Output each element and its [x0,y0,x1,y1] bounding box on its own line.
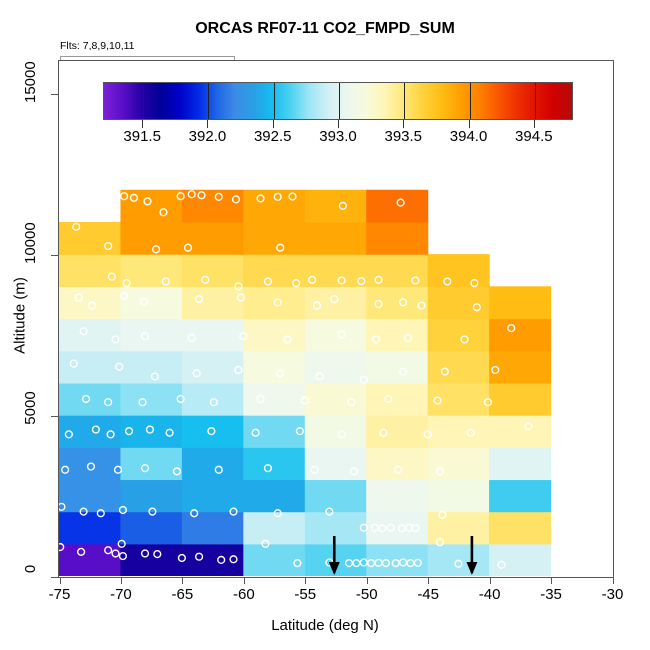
heatmap-cell [489,544,551,576]
heatmap-cell [305,383,367,416]
y-axis-tick [51,577,58,578]
x-axis-tick [551,577,552,584]
heatmap-cell [428,479,490,512]
heatmap-cell [182,479,244,512]
x-axis-tick-label: -45 [417,586,439,603]
colorbar-divider [143,83,144,119]
heatmap-cell [182,512,244,545]
heatmap-cell [366,351,428,384]
heatmap-cell [243,319,305,352]
colorbar-tick [469,120,470,128]
heatmap-cell [120,512,182,545]
colorbar-divider [535,83,536,119]
heatmap-cell [489,383,551,416]
x-axis-tick-label: -65 [172,586,194,603]
colorbar-tick-label: 394.0 [450,128,488,145]
heatmap-cell [182,286,244,319]
heatmap-cell [305,512,367,545]
heatmap-cell [120,190,182,223]
heatmap-cell [243,254,305,287]
heatmap-cell [305,415,367,448]
plot-root: ORCAS RF07-11 CO2_FMPD_SUM Flts: 7,8,9,1… [0,0,650,650]
x-axis-tick-label: -40 [479,586,501,603]
heatmap-cell [366,447,428,480]
y-axis-tick-label: 15000 [14,69,48,103]
colorbar-tick-label: 392.5 [254,128,292,145]
colorbar-divider [339,83,340,119]
colorbar-tick [273,120,274,128]
page-title: ORCAS RF07-11 CO2_FMPD_SUM [0,20,650,38]
x-axis-tick [60,577,61,584]
heatmap-cell [305,319,367,352]
colorbar-tick-label: 392.0 [189,128,227,145]
colorbar-tick-label: 393.0 [319,128,357,145]
heatmap-cell [428,351,490,384]
heatmap-cell [182,447,244,480]
x-axis-tick-label: -35 [540,586,562,603]
heatmap-cell [243,222,305,255]
heatmap-cell [305,447,367,480]
heatmap-cell [59,254,121,287]
heatmap-cell [243,479,305,512]
heatmap-cell [59,512,121,545]
heatmap-cell [366,383,428,416]
x-axis-tick [182,577,183,584]
heatmap-cell [182,190,244,223]
colorbar-divider [404,83,405,119]
colorbar-tick [534,120,535,128]
heatmap-cell [182,544,244,576]
heatmap-cell [59,222,121,255]
heatmap-cell [428,415,490,448]
heatmap-cell [120,286,182,319]
heatmap-cell [428,254,490,287]
heatmap-cell [428,447,490,480]
x-axis-tick-label: -55 [294,586,316,603]
heatmap-cell [59,351,121,384]
y-axis-tick-label: 10000 [14,230,48,264]
heatmap-cell [120,544,182,576]
colorbar-tick-label: 391.5 [123,128,161,145]
x-axis-tick-label: -50 [356,586,378,603]
colorbar-tick [142,120,143,128]
heatmap-cell [489,286,551,319]
colorbar-gradient [103,82,573,120]
heatmap-cell [489,351,551,384]
x-axis-tick [305,577,306,584]
colorbar-ticks [103,120,573,128]
y-axis-tick [51,255,58,256]
heatmap-cell [489,512,551,545]
colorbar-tick [403,120,404,128]
colorbar-tick [207,120,208,128]
colorbar-divider [208,83,209,119]
y-axis-tick-label: 0 [14,552,48,586]
heatmap-cell [489,319,551,352]
colorbar-divider [274,83,275,119]
x-axis-tick [121,577,122,584]
heatmap-cell [366,222,428,255]
heatmap-cell [120,479,182,512]
heatmap-cell [489,415,551,448]
heatmap-cell [182,254,244,287]
x-axis-tick [428,577,429,584]
heatmap-cell [305,479,367,512]
x-axis-tick-label: -70 [110,586,132,603]
heatmap-cell [366,190,428,223]
heatmap-cell [305,222,367,255]
x-axis-tick-label: -30 [602,586,624,603]
heatmap-cell [366,415,428,448]
x-axis-tick [490,577,491,584]
data-point-marker [102,196,109,203]
flights-annotation: Flts: 7,8,9,10,11 [60,40,135,52]
heatmap-cell [489,447,551,480]
heatmap-cell [59,319,121,352]
heatmap-cell [428,383,490,416]
heatmap-cell [428,319,490,352]
y-axis-tick [51,416,58,417]
heatmap-cell [366,479,428,512]
y-axis-tick [51,94,58,95]
colorbar-tick-label: 393.5 [384,128,422,145]
heatmap-cell [305,190,367,223]
x-axis-tick-label: -60 [233,586,255,603]
y-axis-tick-label: 5000 [14,391,48,425]
heatmap-cell [182,415,244,448]
colorbar-tick [338,120,339,128]
x-axis-title: Latitude (deg N) [0,617,650,634]
colorbar-divider [470,83,471,119]
x-axis-tick [367,577,368,584]
heatmap-cell [120,383,182,416]
heatmap-cell [305,351,367,384]
x-axis-tick [613,577,614,584]
x-axis-tick-label: -75 [49,586,71,603]
heatmap-cell [182,351,244,384]
heatmap-cell [243,447,305,480]
x-axis-tick [244,577,245,584]
heatmap-cell [120,222,182,255]
colorbar[interactable]: 391.5392.0392.5393.0393.5394.0394.5 [103,82,573,120]
heatmap-cell [489,479,551,512]
data-point-marker [91,198,98,205]
heatmap-cell [120,319,182,352]
heatmap-cell [428,286,490,319]
heatmap-cell [59,479,121,512]
heatmap-cell [243,512,305,545]
heatmap-cell [120,447,182,480]
colorbar-tick-label: 394.5 [515,128,553,145]
heatmap-cell [366,319,428,352]
heatmap-cell [243,383,305,416]
heatmap-cell [243,351,305,384]
